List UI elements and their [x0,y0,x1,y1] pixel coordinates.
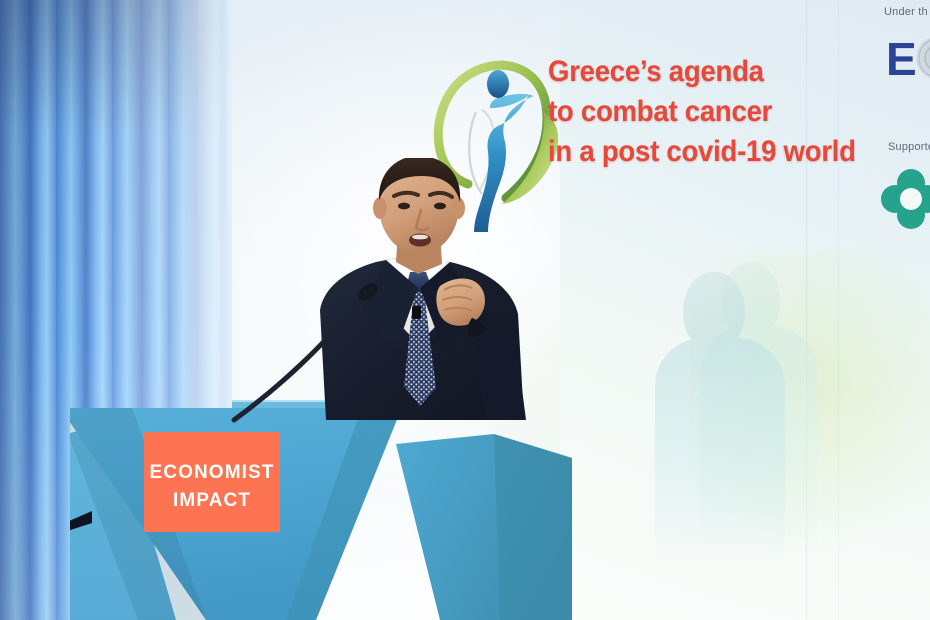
eu-emblem-letter: E [886,39,916,79]
eu-emblem-ring [916,36,930,80]
speaker-teeth [412,235,428,240]
curtain-right-fade [196,0,232,408]
sponsor-under-label: Under th [884,6,928,18]
teal-clover-logo [880,168,930,230]
backdrop-ghost-figure [655,272,785,572]
speaker-ear [451,197,465,219]
sponsor-supported-label: Supporte [888,141,930,153]
microphone-stem [234,298,362,420]
headline-line-2: to combat cancer [548,92,842,132]
banner-headline: Greece’s agenda to combat cancer in a po… [548,52,842,172]
ghost-body [655,338,785,578]
curtain-region-lower [0,392,70,620]
logo-figure-head [487,70,509,98]
speaker-eye [398,203,410,210]
conference-photo-stage: Greece’s agenda to combat cancer in a po… [0,0,930,620]
headline-line-3: in a post covid-19 world [548,132,842,172]
speaker-eye [434,203,446,210]
economist-impact-eu-emblem: E [886,34,930,84]
podium-sign-line-2: IMPACT [173,490,251,511]
podium-right-side [494,434,572,620]
lectern-podium: ECONOMIST IMPACT [0,392,640,620]
curtain-shading [0,392,70,620]
podium-sign-line-1: ECONOMIST [150,462,275,483]
speaker-ear [373,197,387,219]
curtain-region [0,0,232,408]
headline-line-1: Greece’s agenda [548,52,842,92]
gooseneck-microphone [228,276,418,426]
